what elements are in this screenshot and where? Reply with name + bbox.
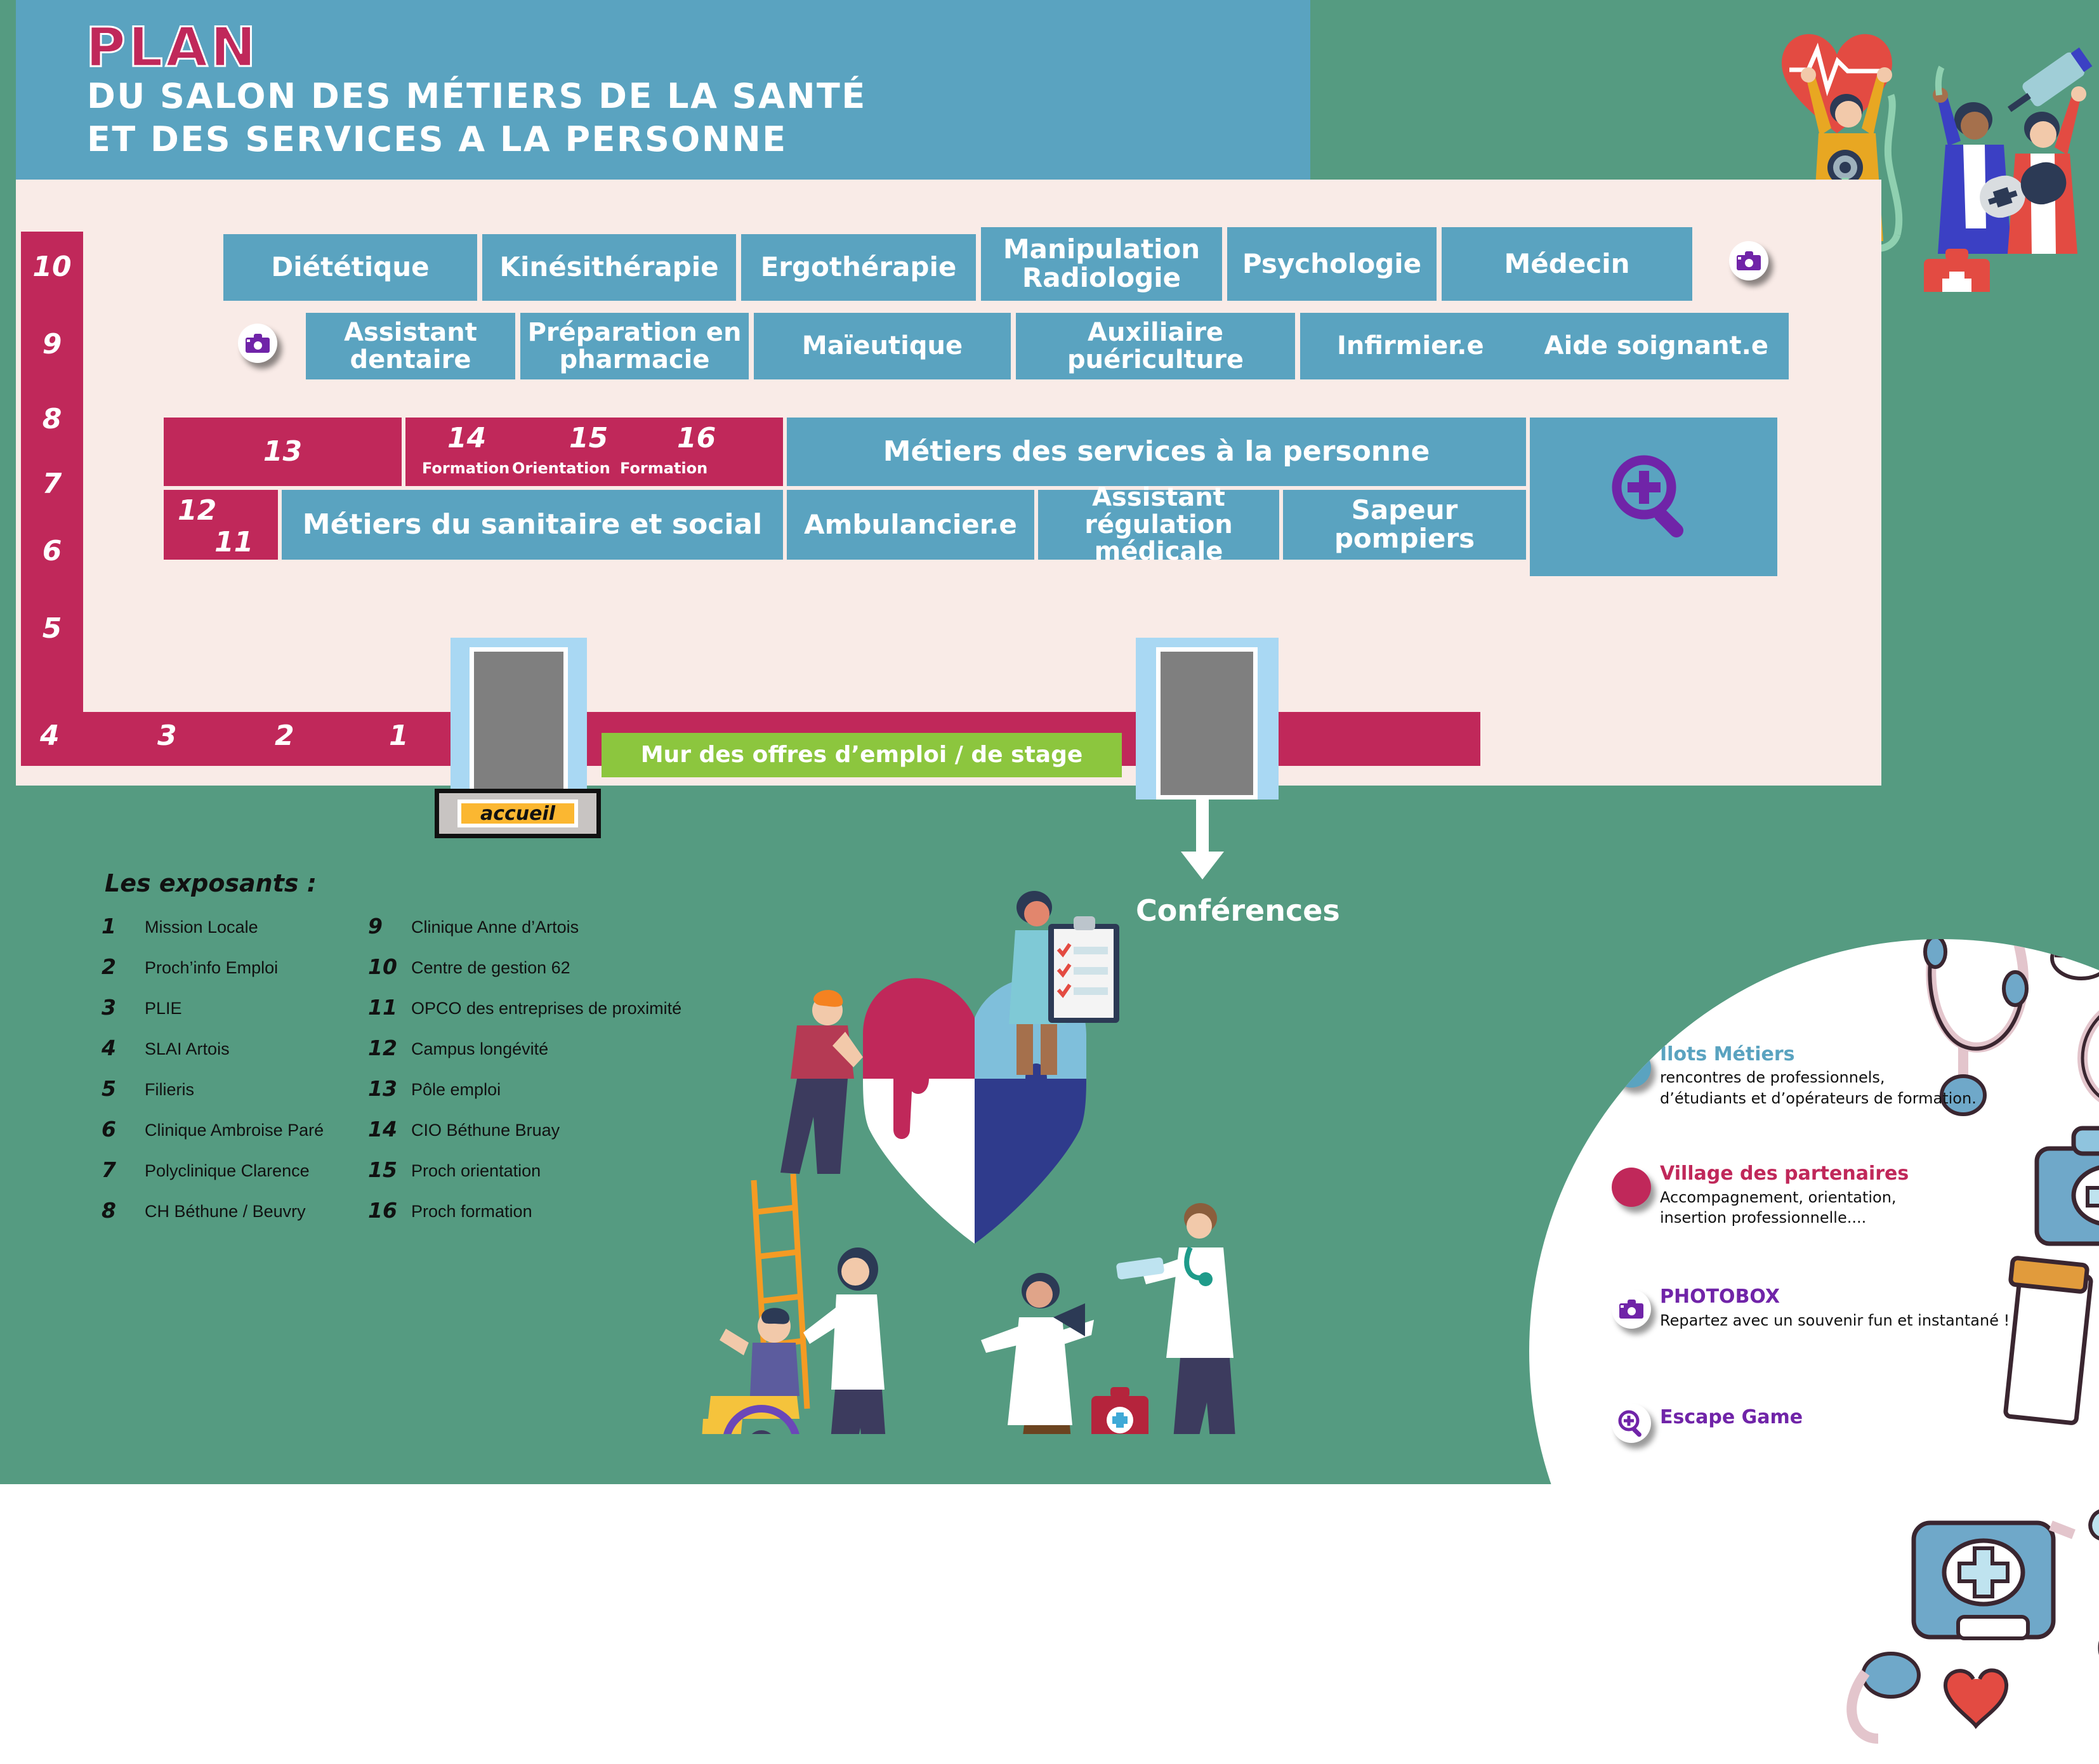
booth-label: Préparation en pharmacie [525,319,744,373]
booth-dietetique[interactable]: Diététique [223,234,477,301]
booth-medecin[interactable]: Médecin [1442,227,1692,301]
booth-ambulancier[interactable]: Ambulancier.e [787,490,1034,560]
booth-label: Maïeutique [802,332,963,359]
conference-stand-inner [1156,647,1258,800]
exhibitor-number: 5 [102,1076,142,1101]
village-number-12: 12 [178,496,216,526]
red-dot-icon [1612,1168,1651,1207]
legend-title: Village des partenaires [1660,1162,1909,1185]
exhibitor-number: 10 [368,954,409,979]
magnifier-plus-icon [1616,1408,1647,1438]
booth-label: Assistant dentaire [311,319,510,373]
booth-maieutique[interactable]: Maïeutique [754,313,1011,379]
booth-assistant-dentaire[interactable]: Assistant dentaire [306,313,515,379]
exhibitor-name: Polyclinique Clarence [145,1161,310,1181]
booth-assistant-regulation-medicale[interactable]: Assistant régulation médicale [1038,490,1279,560]
exhibitor-name: Mission Locale [145,918,258,937]
exhibitor-name: Pôle emploi [411,1080,501,1100]
village-number-16: 16 [677,424,716,454]
bottom-number-1: 1 [389,720,409,752]
village-stands-11-12[interactable]: 12 11 [164,490,278,560]
scale-number-6: 6 [21,535,83,567]
escape-game-zone[interactable] [1530,418,1777,576]
header-band: PLAN DU SALON DES MÉTIERS DE LA SANTÉ ET… [16,0,1310,180]
exhibitor-name: Clinique Ambroise Paré [145,1121,324,1140]
scale-number-5: 5 [21,612,83,645]
booth-label: Diététique [271,253,429,282]
exhibitor-name: Proch orientation [411,1161,541,1181]
camera-icon [246,334,270,353]
exhibitor-number: 8 [102,1198,142,1223]
booth-manipulation-radiologie[interactable]: Manipulation Radiologie [981,227,1222,301]
booth-label: Médecin [1504,250,1629,279]
exhibitor-number: 4 [102,1036,142,1060]
village-sublabel-orientation-15: Orientation [512,461,610,477]
booth-label: Aide soignant.e [1544,332,1768,359]
booth-label: Ambulancier.e [804,511,1017,539]
booth-label: Sapeur pompiers [1288,496,1521,553]
scale-number-10: 10 [21,251,83,283]
village-stand-13[interactable]: 13 [164,418,402,486]
bottom-number-2: 2 [275,720,294,752]
booth-label: Assistant régulation médicale [1043,484,1274,565]
exhibitor-number: 7 [102,1157,142,1182]
photobox-badge-left[interactable] [238,324,277,363]
exhibitor-number: 2 [102,954,142,979]
booth-label: Métiers des services à la personne [883,437,1430,467]
page-title-line2: DU SALON DES MÉTIERS DE LA SANTÉ [87,76,867,116]
scale-number-9: 9 [21,328,83,360]
booth-label: Kinésithérapie [499,253,718,282]
booth-metiers-services-personne[interactable]: Métiers des services à la personne [787,418,1526,486]
village-sublabel-formation-16: Formation [620,461,707,477]
exhibitor-number: 9 [368,914,409,938]
exhibitor-number: 3 [102,995,142,1020]
booth-label: Auxiliaire puériculture [1021,319,1290,373]
exhibitor-name: OPCO des entreprises de proximité [411,999,681,1018]
exhibitor-name: PLIE [145,999,182,1018]
legend-sub-line1: Repartez avec un souvenir fun et instant… [1660,1311,2010,1331]
legend-sub-line1: Accompagnement, orientation, [1660,1188,1897,1208]
exhibitor-number: 15 [368,1157,409,1182]
exhibitor-number: 16 [368,1198,409,1223]
legend-title: PHOTOBOX [1660,1286,1780,1308]
accueil-box[interactable]: accueil [435,789,601,838]
booth-auxiliaire-puericulture[interactable]: Auxiliaire puériculture [1016,313,1295,379]
exhibitors-heading: Les exposants : [105,869,317,897]
bottom-number-3: 3 [157,720,177,752]
exhibitor-number: 1 [102,914,142,938]
booth-label: Manipulation Radiologie [986,235,1217,292]
exhibitor-number: 12 [368,1036,409,1060]
village-number: 13 [263,437,302,467]
legend-sub-line2: insertion professionnelle.... [1660,1208,1866,1228]
exhibitor-number: 6 [102,1117,142,1142]
entrance-stand-inner [470,647,568,800]
exhibitor-name: CIO Béthune Bruay [411,1121,560,1140]
exhibitor-name: Proch’info Emploi [145,958,278,978]
exhibitor-name: Clinique Anne d’Artois [411,918,579,937]
exhibitor-name: Filieris [145,1080,194,1100]
booth-ergotherapie[interactable]: Ergothérapie [741,234,976,301]
legend-title: Îlots Métiers [1660,1043,1795,1065]
job-offers-wall-label: Mur des offres d’emploi / de stage [641,743,1083,767]
blue-dot-icon [1612,1048,1651,1088]
booth-label: Métiers du sanitaire et social [303,510,762,540]
camera-icon [1737,251,1761,270]
booth-aide-soignant[interactable]: Aide soignant.e [1300,313,1789,379]
medical-pattern-decoration [1827,939,2099,1764]
job-offers-wall[interactable]: Mur des offres d’emploi / de stage [602,733,1122,777]
booth-label: Ergothérapie [761,253,957,282]
village-stands-14-15-16[interactable]: 14 15 16 Formation Orientation Formation [405,418,783,486]
booth-sapeur-pompiers[interactable]: Sapeur pompiers [1283,490,1526,560]
village-number-11: 11 [214,528,253,558]
exhibitor-name: CH Béthune / Beuvry [145,1202,306,1221]
bottom-number-4: 4 [40,720,60,752]
booth-psychologie[interactable]: Psychologie [1227,227,1437,301]
page-title-accent: PLAN [86,16,258,79]
conference-arrow-icon [1177,798,1228,881]
page-title-line3: ET DES SERVICES A LA PERSONNE [87,119,787,159]
booth-metiers-sanitaire-social[interactable]: Métiers du sanitaire et social [282,490,783,560]
booth-preparation-pharmacie[interactable]: Préparation en pharmacie [520,313,749,379]
exhibitor-number: 13 [368,1076,409,1101]
exhibitor-name: SLAI Artois [145,1039,230,1059]
booth-kinesitherapie[interactable]: Kinésithérapie [482,234,736,301]
scale-number-7: 7 [21,468,83,500]
camera-icon-badge [1612,1289,1651,1329]
village-number-15: 15 [569,424,608,454]
exhibitor-name: Centre de gestion 62 [411,958,570,978]
heart-puzzle-illustration [673,888,1294,1434]
village-number-14: 14 [447,424,486,454]
exhibitor-number: 11 [368,995,409,1020]
legend-sub-line2: d’étudiants et d’opérateurs de formation… [1660,1089,1977,1109]
camera-icon [1619,1300,1643,1319]
booth-label: Psychologie [1242,250,1421,279]
magnifier-icon-badge [1612,1404,1651,1443]
scale-number-8: 8 [21,403,83,435]
accueil-label: accueil [457,800,578,827]
magnifier-plus-icon [1606,449,1701,544]
photobox-badge-top-right[interactable] [1729,241,1768,280]
exhibitor-name: Campus longévité [411,1039,548,1059]
scale-column: 10 9 8 7 6 5 [21,232,83,765]
legend-panel: Îlots Métiers rencontres de professionne… [1529,939,2099,1764]
exhibitor-name: Proch formation [411,1202,532,1221]
legend-title: Escape Game [1660,1406,1803,1428]
legend-sub-line1: rencontres de professionnels, [1660,1068,1885,1088]
exhibitor-number: 14 [368,1117,409,1142]
village-sublabel-formation-14: Formation [422,461,510,477]
